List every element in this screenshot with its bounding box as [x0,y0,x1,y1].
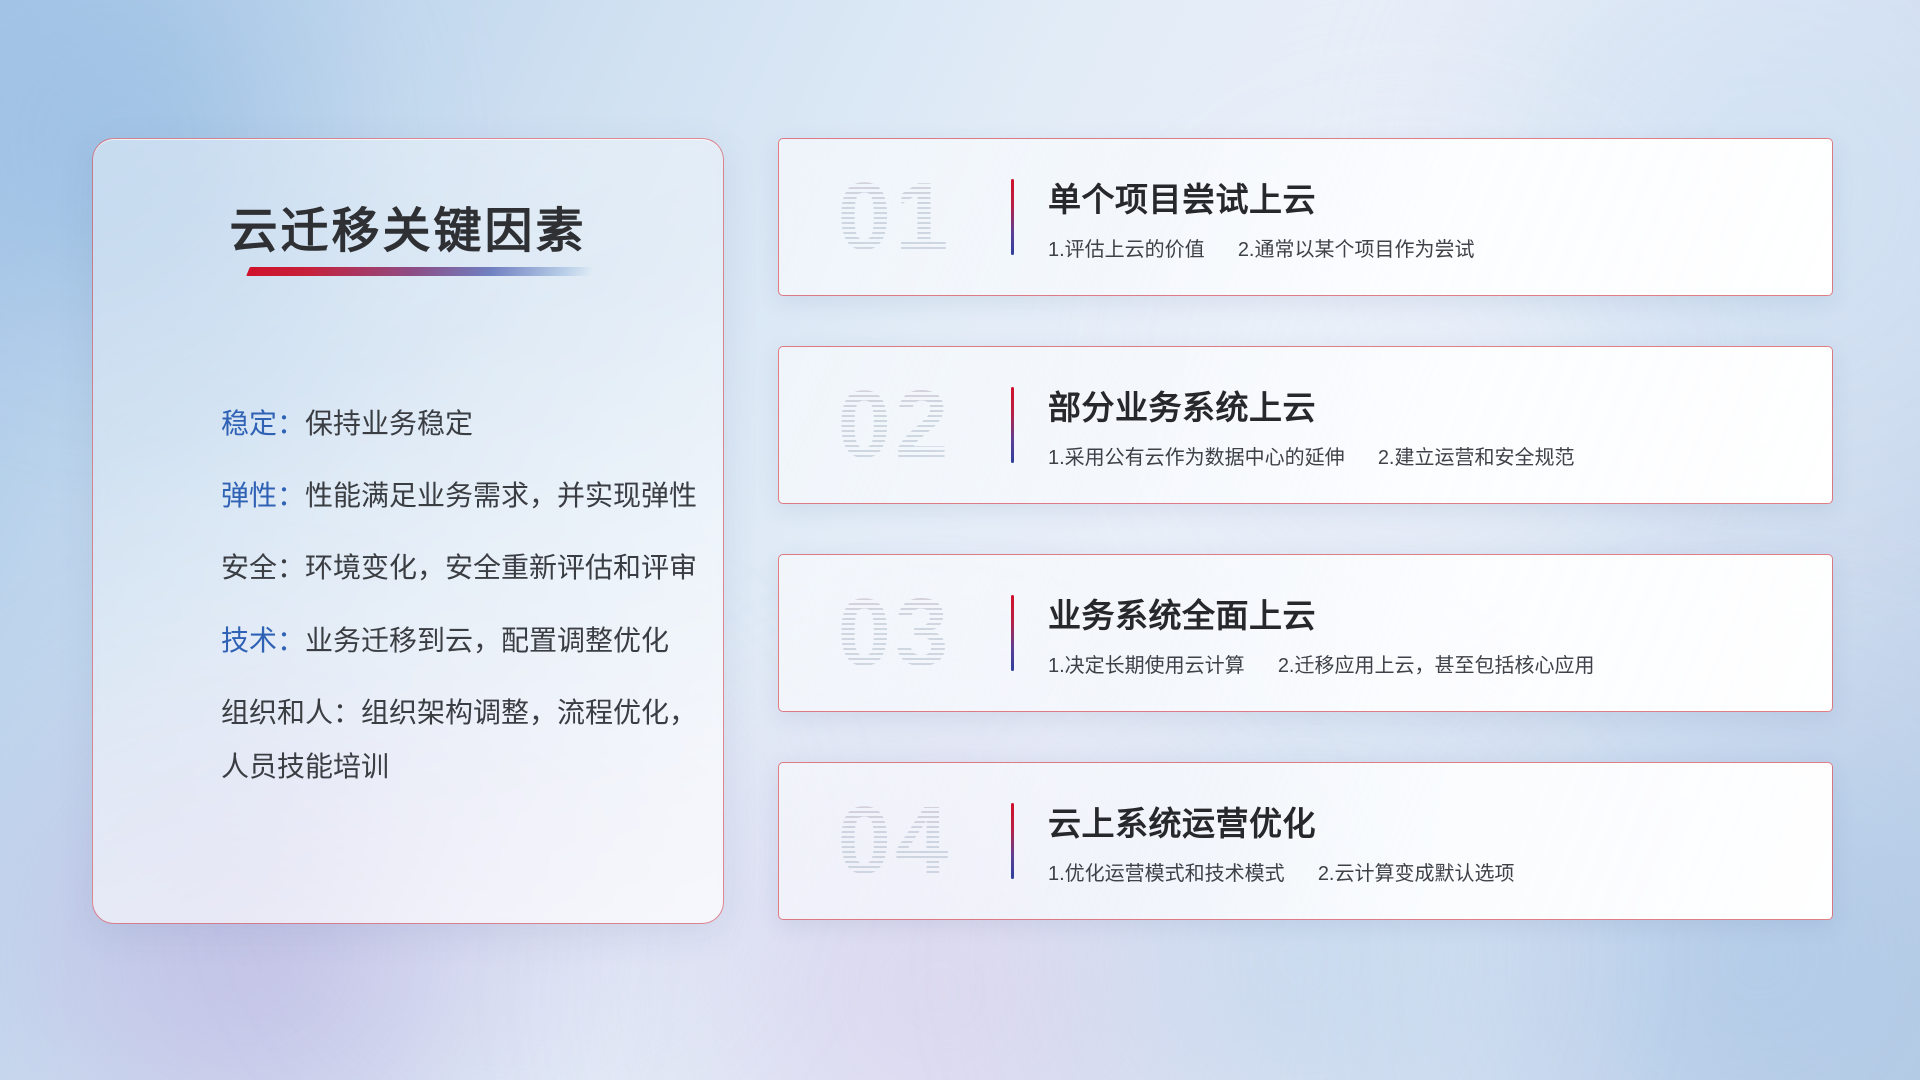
stage-point-1: 1.采用公有云作为数据中心的延伸 [1048,447,1345,469]
stage-card-list: 01 01 单个项目尝试上云 1.评估上云的价值 2.通常以某个项目作为尝试 0… [778,138,1833,920]
factor-item: 组织和人：组织架构调整，流程优化， [221,698,687,728]
factor-item-continuation: 人员技能培训 [221,752,687,782]
factor-label: 安全： [221,552,305,583]
stage-number-tint: 03 [779,578,1011,688]
stage-description: 1.采用公有云作为数据中心的延伸 2.建立运营和安全规范 [1048,441,1808,470]
factor-label: 稳定： [221,408,305,439]
factor-text: 组织架构调整，流程优化， [361,697,697,728]
factor-text: 保持业务稳定 [305,408,473,439]
stage-number-tint: 01 [779,162,1011,272]
stage-accent-divider [1011,387,1014,463]
stage-point-1: 1.优化运营模式和技术模式 [1048,863,1285,885]
stage-number-watermark: 01 01 [779,162,1011,272]
stage-description: 1.决定长期使用云计算 2.迁移应用上云，甚至包括核心应用 [1048,649,1808,678]
stage-title: 业务系统全面上云 [1048,589,1808,637]
factor-item: 稳定：保持业务稳定 [221,409,687,439]
factor-text: 人员技能培训 [221,751,389,782]
stage-card[interactable]: 01 01 单个项目尝试上云 1.评估上云的价值 2.通常以某个项目作为尝试 [778,138,1833,296]
stage-accent-divider [1011,803,1014,879]
stage-number-watermark: 04 04 [779,786,1011,896]
key-factors-panel: 云迁移关键因素 稳定：保持业务稳定 弹性：性能满足业务需求，并实现弹性 安全：环… [92,138,724,924]
stage-description: 1.评估上云的价值 2.通常以某个项目作为尝试 [1048,233,1808,262]
stage-title: 部分业务系统上云 [1048,381,1808,429]
stage-card[interactable]: 02 02 部分业务系统上云 1.采用公有云作为数据中心的延伸 2.建立运营和安… [778,346,1833,504]
stage-card[interactable]: 03 03 业务系统全面上云 1.决定长期使用云计算 2.迁移应用上云，甚至包括… [778,554,1833,712]
stage-card[interactable]: 04 04 云上系统运营优化 1.优化运营模式和技术模式 2.云计算变成默认选项 [778,762,1833,920]
factor-list: 稳定：保持业务稳定 弹性：性能满足业务需求，并实现弹性 安全：环境变化，安全重新… [221,409,687,782]
stage-accent-divider [1011,595,1014,671]
factor-item: 技术：业务迁移到云，配置调整优化 [221,626,687,656]
stage-point-2: 2.通常以某个项目作为尝试 [1238,239,1475,261]
stage-point-2: 2.迁移应用上云，甚至包括核心应用 [1278,655,1595,677]
title-underline-accent [246,267,595,276]
stage-point-2: 2.建立运营和安全规范 [1378,447,1575,469]
stage-accent-divider [1011,179,1014,255]
stage-description: 1.优化运营模式和技术模式 2.云计算变成默认选项 [1048,857,1808,886]
factor-label: 技术： [221,625,305,656]
stage-number-tint: 04 [779,786,1011,896]
panel-title: 云迁移关键因素 [93,191,723,261]
factor-item: 安全：环境变化，安全重新评估和评审 [221,553,687,583]
stage-number-tint: 02 [779,370,1011,480]
slide-canvas: 云迁移关键因素 稳定：保持业务稳定 弹性：性能满足业务需求，并实现弹性 安全：环… [0,0,1920,1080]
factor-text: 环境变化，安全重新评估和评审 [305,552,697,583]
stage-point-2: 2.云计算变成默认选项 [1318,863,1515,885]
stage-point-1: 1.评估上云的价值 [1048,239,1205,261]
factor-text: 业务迁移到云，配置调整优化 [305,625,669,656]
stage-number-watermark: 02 02 [779,370,1011,480]
stage-point-1: 1.决定长期使用云计算 [1048,655,1245,677]
factor-text: 性能满足业务需求，并实现弹性 [305,480,697,511]
stage-number-watermark: 03 03 [779,578,1011,688]
factor-label: 弹性： [221,480,305,511]
factor-label: 组织和人： [221,697,361,728]
stage-title: 单个项目尝试上云 [1048,173,1808,221]
stage-title: 云上系统运营优化 [1048,797,1808,845]
factor-item: 弹性：性能满足业务需求，并实现弹性 [221,481,687,511]
